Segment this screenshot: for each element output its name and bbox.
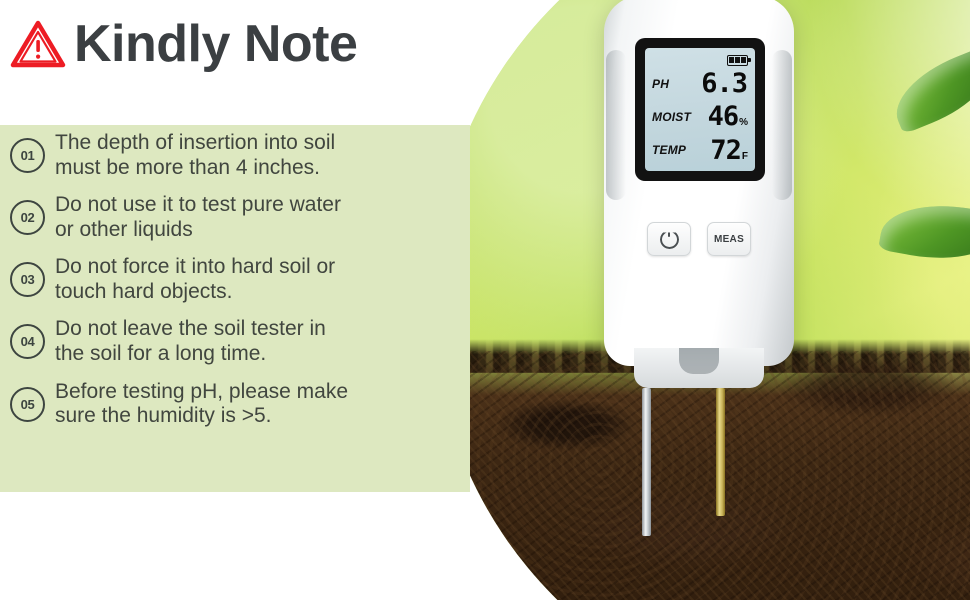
power-button[interactable]: [647, 222, 691, 256]
note-text: The depth of insertion into soil must be…: [55, 131, 335, 180]
brass-probe: [716, 388, 725, 516]
lcd-unit-temp: F: [742, 151, 748, 162]
note-badge: 05: [10, 387, 45, 422]
lcd-value-temp: 72 F: [710, 137, 748, 164]
battery-full-icon: [727, 55, 748, 66]
lcd-row-temp: TEMP 72 F: [652, 134, 748, 167]
leaf: [884, 46, 970, 135]
lcd-screen: PH 6.3 MOIST 46 % TEMP 72: [645, 48, 755, 171]
lcd-row-ph: PH 6.3: [652, 67, 748, 100]
lcd-number-temp: 72: [710, 137, 741, 164]
soil-tester-device: PH 6.3 MOIST 46 % TEMP 72: [604, 0, 794, 366]
lcd-label-moist: MOIST: [652, 110, 691, 124]
lcd-label-ph: PH: [652, 77, 669, 91]
lcd-value-moist: 46 %: [708, 103, 748, 130]
seedling-plant: [884, 58, 970, 358]
power-icon: [660, 230, 679, 249]
list-item: 03 Do not force it into hard soil or tou…: [10, 255, 450, 304]
list-item: 02 Do not use it to test pure water or o…: [10, 193, 450, 242]
note-badge: 03: [10, 262, 45, 297]
note-badge: 02: [10, 200, 45, 235]
page-title: Kindly Note: [74, 18, 357, 70]
note-text: Do not use it to test pure water or othe…: [55, 193, 341, 242]
lcd-label-temp: TEMP: [652, 143, 686, 157]
lcd-unit-moist: %: [739, 117, 748, 128]
soil-bed: [432, 351, 970, 600]
note-badge: 04: [10, 324, 45, 359]
measure-button[interactable]: MEAS: [707, 222, 751, 256]
note-text: Do not leave the soil tester in the soil…: [55, 317, 326, 366]
note-text: Before testing pH, please make sure the …: [55, 380, 348, 429]
leaf: [878, 194, 970, 270]
device-side-shadow-left: [606, 50, 626, 200]
list-item: 01 The depth of insertion into soil must…: [10, 131, 450, 180]
device-side-shadow-right: [772, 50, 792, 200]
lcd-row-moist: MOIST 46 %: [652, 100, 748, 133]
note-badge: 01: [10, 138, 45, 173]
lcd-number-moist: 46: [708, 103, 739, 130]
steel-probe: [642, 388, 651, 536]
list-item: 05 Before testing pH, please make sure t…: [10, 380, 450, 429]
lcd-bezel: PH 6.3 MOIST 46 % TEMP 72: [635, 38, 765, 181]
device-button-row: MEAS: [604, 222, 794, 256]
promo-banner: PH 6.3 MOIST 46 % TEMP 72: [0, 0, 970, 600]
notes-list: 01 The depth of insertion into soil must…: [10, 131, 450, 442]
warning-triangle-icon: [10, 18, 66, 70]
note-text: Do not force it into hard soil or touch …: [55, 255, 335, 304]
lcd-battery-row: [652, 53, 748, 67]
page-header: Kindly Note: [10, 18, 357, 70]
lcd-number-ph: 6.3: [701, 70, 747, 97]
list-item: 04 Do not leave the soil tester in the s…: [10, 317, 450, 366]
probe-yoke: [634, 348, 764, 388]
lcd-value-ph: 6.3: [701, 70, 748, 97]
